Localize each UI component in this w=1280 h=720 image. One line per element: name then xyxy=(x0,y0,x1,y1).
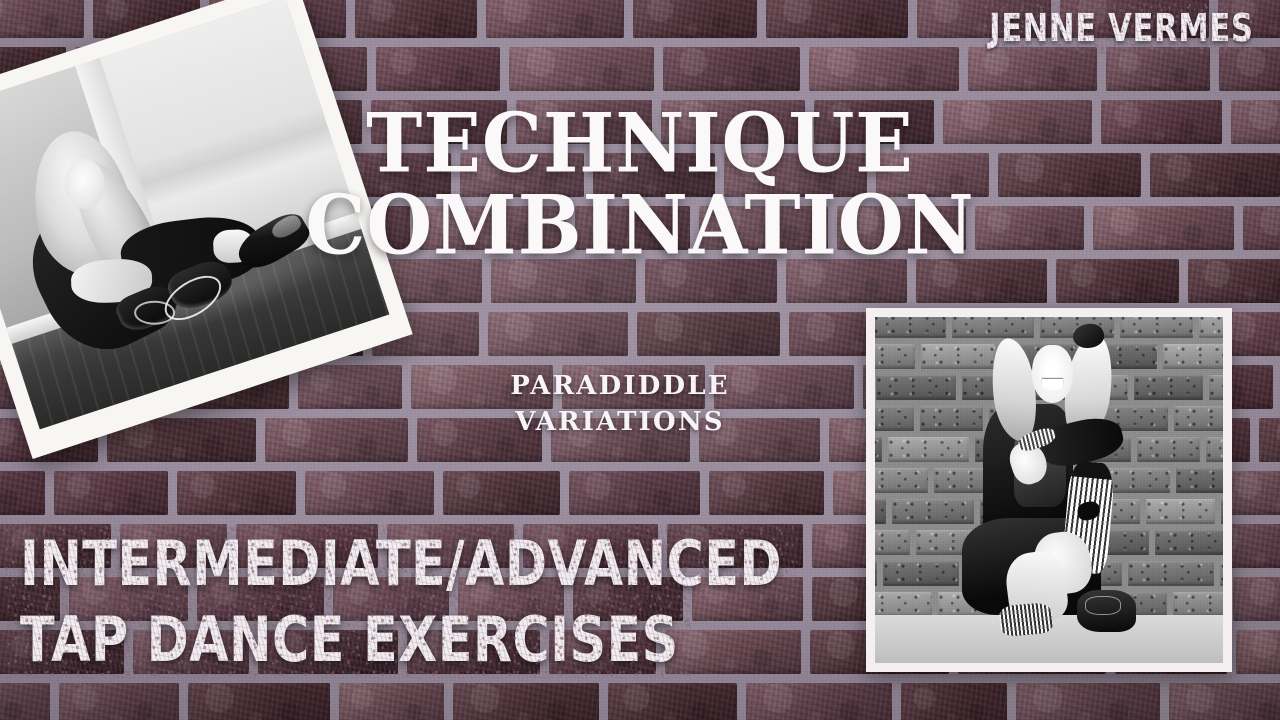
brick xyxy=(0,471,45,515)
brick xyxy=(569,471,700,515)
brick-row xyxy=(0,683,1280,720)
brick xyxy=(1243,206,1280,250)
brick xyxy=(809,47,959,91)
brick xyxy=(1093,206,1234,250)
brick xyxy=(916,259,1047,303)
brick xyxy=(376,47,500,91)
brick xyxy=(1016,683,1160,720)
brick xyxy=(766,0,908,38)
brick xyxy=(177,471,296,515)
tap-shoe-other xyxy=(1077,590,1136,632)
photo-brick xyxy=(875,406,914,431)
photo-brick xyxy=(875,344,915,369)
brick xyxy=(443,471,560,515)
brick xyxy=(339,683,444,720)
photo-brick xyxy=(1174,406,1223,431)
brick xyxy=(491,259,636,303)
brick xyxy=(460,153,584,197)
girl-smile xyxy=(1042,379,1063,389)
brick xyxy=(575,206,690,250)
photo-brick xyxy=(1128,561,1214,586)
brick xyxy=(551,418,690,462)
brick xyxy=(188,683,330,720)
brick xyxy=(699,206,828,250)
level-line-1-text: INTERMEDIATE/ADVANCED xyxy=(20,530,782,598)
photo-brick xyxy=(1155,530,1223,555)
brick xyxy=(59,683,179,720)
brick xyxy=(488,312,628,356)
brick xyxy=(724,153,867,197)
author-credit-text: JENNE VERMES xyxy=(989,6,1254,50)
photo-brick xyxy=(1176,468,1223,493)
photo-brick xyxy=(1134,375,1203,400)
photo-brick xyxy=(1209,375,1223,400)
level-description: INTERMEDIATE/ADVANCED TAP DANCE EXERCISE… xyxy=(20,530,949,674)
photo-brick xyxy=(1199,317,1223,338)
photo-brick xyxy=(921,344,995,369)
photo-brick xyxy=(1220,561,1223,586)
photo-brick xyxy=(1146,499,1215,524)
brick xyxy=(593,153,715,197)
brick xyxy=(1169,683,1280,720)
level-line-2-text: TAP DANCE EXERCISES xyxy=(20,606,679,674)
brick xyxy=(562,365,705,409)
brick xyxy=(876,153,989,197)
brick xyxy=(699,418,820,462)
brick xyxy=(0,0,84,38)
photo-brick xyxy=(1120,317,1193,338)
brick xyxy=(1056,259,1179,303)
brick xyxy=(968,47,1097,91)
photo-brick xyxy=(875,499,886,524)
brick xyxy=(645,259,777,303)
brick xyxy=(814,100,934,144)
brick xyxy=(1219,47,1280,91)
brick xyxy=(411,365,553,409)
brick xyxy=(0,683,50,720)
brick xyxy=(786,259,907,303)
photo-brick xyxy=(875,437,882,462)
photo-brick xyxy=(952,317,1034,338)
thumbnail-canvas: JENNE VERMES TECHNIQUE COMBINATION PARAD… xyxy=(0,0,1280,720)
brick xyxy=(453,683,599,720)
photo-brick-row xyxy=(875,317,1210,338)
brick xyxy=(1259,418,1280,462)
brick xyxy=(975,206,1084,250)
brick xyxy=(371,100,507,144)
brick xyxy=(837,206,966,250)
brick xyxy=(305,471,434,515)
brick xyxy=(1233,577,1280,621)
photo-brick xyxy=(1137,437,1200,462)
brick xyxy=(637,312,780,356)
brick xyxy=(1236,630,1280,674)
brick xyxy=(486,0,624,38)
brick xyxy=(516,100,652,144)
brick xyxy=(419,206,566,250)
brick xyxy=(943,100,1092,144)
brick xyxy=(663,47,800,91)
author-credit: JENNE VERMES xyxy=(989,6,1254,50)
level-line-2: TAP DANCE EXERCISES xyxy=(20,606,782,674)
brick xyxy=(298,365,402,409)
brick xyxy=(714,365,854,409)
brick xyxy=(265,418,408,462)
brick xyxy=(1150,153,1280,197)
brick xyxy=(901,683,1007,720)
photo-brick xyxy=(1173,592,1223,615)
brick xyxy=(1188,259,1280,303)
tap-shoe-heel-plate xyxy=(999,602,1054,638)
photo-brick xyxy=(920,406,983,431)
photo-brick xyxy=(875,468,928,493)
brick xyxy=(661,100,805,144)
brick xyxy=(355,0,477,38)
level-line-1: INTERMEDIATE/ADVANCED xyxy=(20,530,782,598)
brick xyxy=(709,471,824,515)
brick xyxy=(509,47,654,91)
brick xyxy=(998,153,1141,197)
brick xyxy=(633,0,757,38)
photo-brick xyxy=(1206,437,1223,462)
brick xyxy=(1101,100,1222,144)
photo-brick xyxy=(875,317,946,338)
brick xyxy=(417,418,542,462)
brick xyxy=(608,683,737,720)
brick xyxy=(54,471,168,515)
photo-brick xyxy=(888,437,969,462)
brick xyxy=(1231,100,1280,144)
photo-brick xyxy=(1221,499,1223,524)
photo-brick xyxy=(876,375,956,400)
brick xyxy=(746,683,892,720)
photo-brick xyxy=(1163,344,1223,369)
brick xyxy=(1106,47,1210,91)
photo-brick xyxy=(892,499,974,524)
